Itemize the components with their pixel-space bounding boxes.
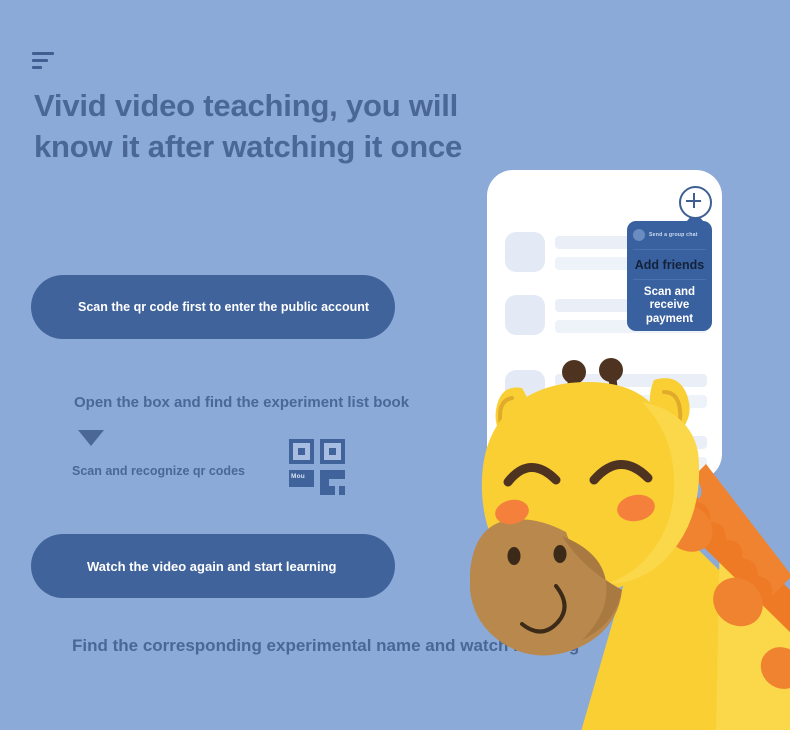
list-menu-icon[interactable] <box>32 52 56 72</box>
scan-qr-step-button[interactable]: Scan the qr code first to enter the publ… <box>31 275 395 339</box>
menu-item-send-group-chat[interactable]: Send a group chat <box>627 221 712 249</box>
chat-bubble-icon <box>633 229 645 241</box>
qr-code-graphic[interactable]: Mou <box>289 439 345 495</box>
menu-item-send-group-chat-label: Send a group chat <box>649 232 698 238</box>
open-box-step-label: Open the box and find the experiment lis… <box>74 394 409 411</box>
menu-item-scan-receive-payment[interactable]: Scan and receive payment <box>627 281 712 331</box>
add-plus-button[interactable] <box>679 186 712 219</box>
qr-finder-top-left <box>289 439 314 464</box>
watch-video-step-label: Watch the video again and start learning <box>87 559 336 574</box>
qr-block-3 <box>329 470 345 479</box>
avatar <box>505 295 545 335</box>
avatar <box>505 232 545 272</box>
qr-block-5 <box>339 486 345 495</box>
add-menu-dropdown: Send a group chat Add friends Scan and r… <box>627 221 712 331</box>
promo-banner: Vivid video teaching, you will know it a… <box>0 0 790 730</box>
watch-video-step-button[interactable]: Watch the video again and start learning <box>31 534 395 598</box>
menu-item-add-friends[interactable]: Add friends <box>627 250 712 279</box>
triangle-down-icon <box>78 430 104 446</box>
qr-finder-top-right <box>320 439 345 464</box>
plus-icon-vertical <box>693 193 695 208</box>
menu-divider <box>633 279 706 280</box>
scan-qr-step-label: Scan the qr code first to enter the publ… <box>78 299 369 316</box>
menu-line-2 <box>32 59 48 62</box>
menu-line-3 <box>32 66 42 69</box>
menu-line-1 <box>32 52 54 55</box>
qr-code-caption: Mou <box>291 473 313 480</box>
page-title: Vivid video teaching, you will know it a… <box>34 86 504 168</box>
scan-recognize-step-label: Scan and recognize qr codes <box>72 464 245 478</box>
giraffe-mascot <box>470 350 790 730</box>
qr-block-2 <box>320 470 329 495</box>
qr-block-4 <box>329 486 335 495</box>
